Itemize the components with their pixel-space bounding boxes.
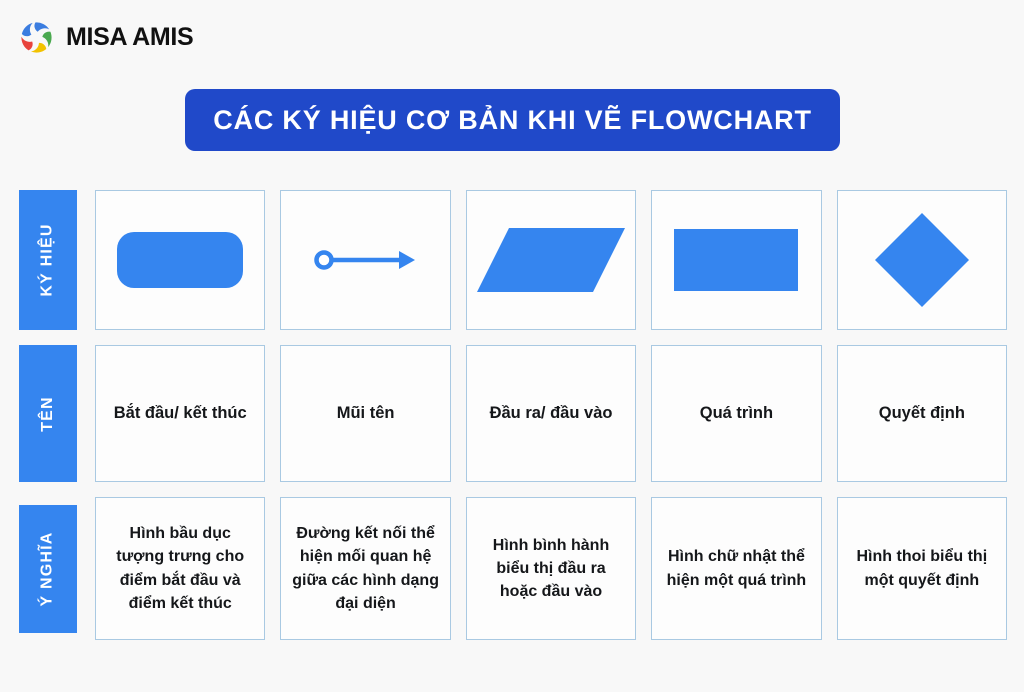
name-text: Đầu ra/ đầu vào [484, 402, 619, 424]
name-cell-input-output: Đầu ra/ đầu vào [466, 345, 636, 482]
rectangle-shape-icon [671, 225, 801, 295]
row-label-symbols: KÝ HIỆU [19, 190, 77, 330]
symbol-cell-process [651, 190, 821, 330]
table-row-meanings: Ý NGHĨA Hình bầu dục tượng trưng cho điể… [0, 497, 1024, 640]
row-label-symbols-text: KÝ HIỆU [39, 223, 57, 296]
symbols-table: KÝ HIỆU [0, 190, 1024, 640]
name-cell-start-end: Bắt đầu/ kết thúc [95, 345, 265, 482]
name-cells: Bắt đầu/ kết thúc Mũi tên Đầu ra/ đầu và… [95, 345, 1024, 482]
meaning-text: Hình bầu dục tượng trưng cho điểm bắt đầ… [96, 522, 264, 615]
name-cell-decision: Quyết định [837, 345, 1007, 482]
arrow-connector-shape-icon [311, 240, 421, 280]
row-label-name-wrap: TÊN [0, 345, 95, 482]
symbol-cell-decision [837, 190, 1007, 330]
infographic-page: MISA AMIS CÁC KÝ HIỆU CƠ BẢN KHI VẼ FLOW… [0, 0, 1024, 692]
meaning-cell-start-end: Hình bầu dục tượng trưng cho điểm bắt đầ… [95, 497, 265, 640]
name-text: Mũi tên [331, 402, 401, 424]
meaning-cell-decision: Hình thoi biểu thị một quyết định [837, 497, 1007, 640]
title-banner: CÁC KÝ HIỆU CƠ BẢN KHI VẼ FLOWCHART [185, 89, 840, 151]
name-text: Bắt đầu/ kết thúc [108, 402, 253, 424]
row-label-name-text: TÊN [38, 396, 56, 432]
symbol-cells [95, 190, 1024, 330]
meaning-text: Hình chữ nhật thể hiện một quá trình [652, 545, 820, 591]
row-label-meaning-wrap: Ý NGHĨA [0, 497, 95, 640]
row-label-meaning: Ý NGHĨA [19, 505, 77, 633]
brand-name: MISA AMIS [66, 23, 193, 52]
rounded-rectangle-shape-icon [110, 220, 250, 300]
meaning-cells: Hình bầu dục tượng trưng cho điểm bắt đầ… [95, 497, 1024, 640]
meaning-cell-process: Hình chữ nhật thể hiện một quá trình [651, 497, 821, 640]
symbol-cell-input-output [466, 190, 636, 330]
table-row-names: TÊN Bắt đầu/ kết thúc Mũi tên Đầu ra/ đầ… [0, 345, 1024, 482]
meaning-text: Hình bình hành biểu thị đầu ra hoặc đầu … [467, 534, 635, 604]
row-label-symbols-wrap: KÝ HIỆU [0, 190, 95, 330]
meaning-cell-arrow: Đường kết nối thể hiện mối quan hệ giữa … [280, 497, 450, 640]
brand-logo: MISA AMIS [18, 19, 193, 56]
row-label-name: TÊN [19, 345, 77, 482]
diamond-shape-icon [872, 210, 972, 310]
meaning-text: Hình thoi biểu thị một quyết định [838, 545, 1006, 591]
symbol-cell-arrow [280, 190, 450, 330]
symbol-cell-start-end [95, 190, 265, 330]
name-text: Quá trình [694, 402, 779, 424]
table-row-symbols: KÝ HIỆU [0, 190, 1024, 330]
meaning-text: Đường kết nối thể hiện mối quan hệ giữa … [281, 522, 449, 615]
meaning-cell-input-output: Hình bình hành biểu thị đầu ra hoặc đầu … [466, 497, 636, 640]
parallelogram-shape-icon [473, 220, 629, 300]
name-text: Quyết định [873, 402, 971, 424]
misa-swirl-logo-icon [18, 19, 55, 56]
name-cell-arrow: Mũi tên [280, 345, 450, 482]
page-title: CÁC KÝ HIỆU CƠ BẢN KHI VẼ FLOWCHART [213, 105, 812, 136]
name-cell-process: Quá trình [651, 345, 821, 482]
row-label-meaning-text: Ý NGHĨA [39, 531, 57, 606]
